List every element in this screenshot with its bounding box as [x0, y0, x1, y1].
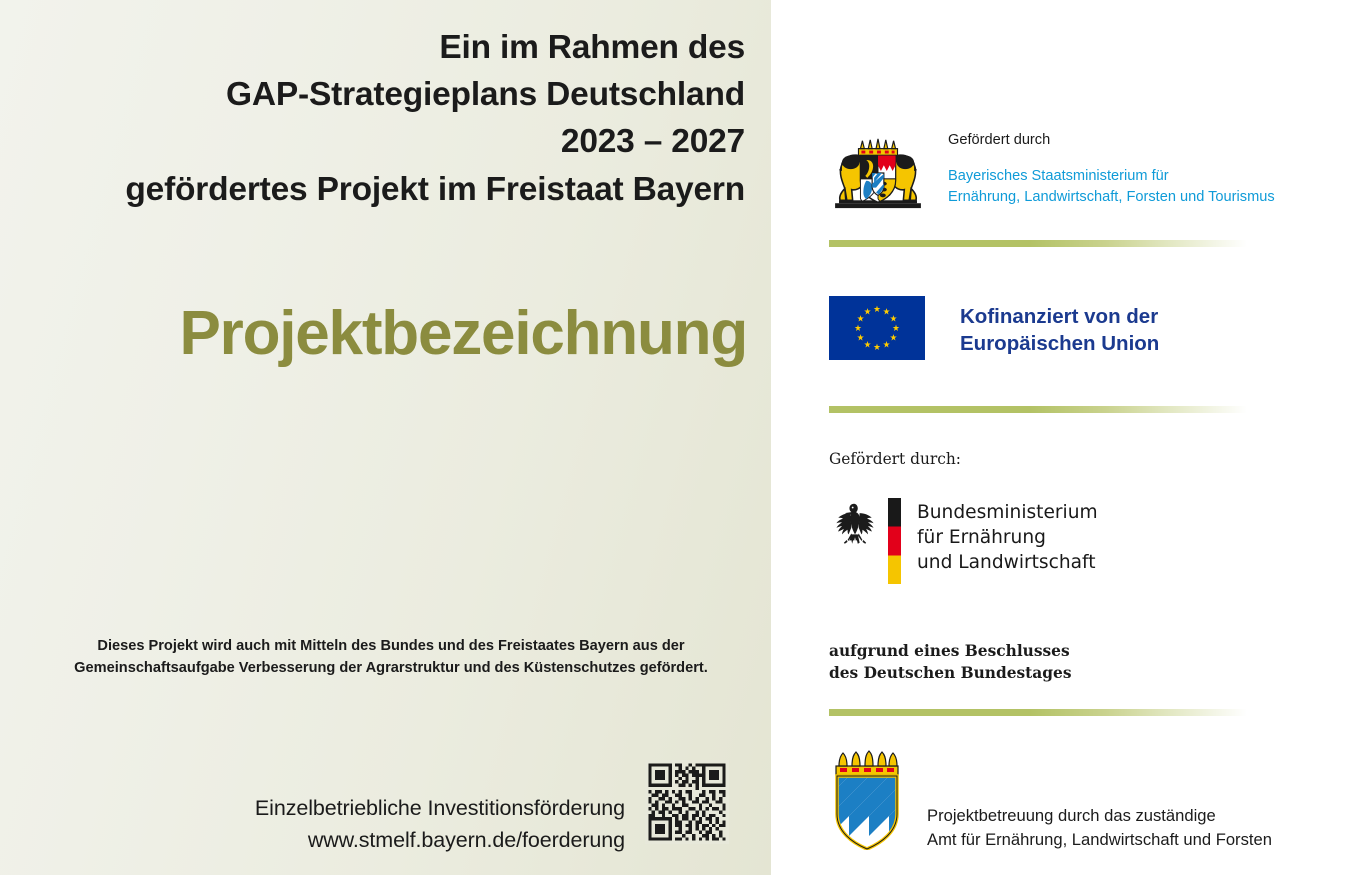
bavaria-shield-icon	[829, 748, 905, 850]
page-title: Projektbezeichnung	[7, 303, 747, 365]
bavarian-ministry-name-line-2: Ernährung, Landwirtschaft, Forsten und T…	[948, 187, 1275, 208]
eu-text-line-2: Europäischen Union	[960, 331, 1159, 358]
footer-programme-name: Einzelbetriebliche Investitionsförderung	[255, 793, 625, 825]
bmel-note-line-1: aufgrund eines Beschlusses	[829, 641, 1072, 663]
bmel-note: aufgrund eines Beschlusses des Deutschen…	[829, 641, 1072, 685]
headline-line-4: gefördertes Projekt im Freistaat Bayern	[45, 166, 745, 213]
funding-note-line-1: Dieses Projekt wird auch mit Mitteln des…	[35, 636, 747, 658]
headline-line-2: GAP-Strategieplans Deutschland	[45, 71, 745, 118]
aelf-text: Projektbetreuung durch das zuständige Am…	[927, 804, 1272, 852]
left-panel: Ein im Rahmen des GAP-Strategieplans Deu…	[0, 0, 771, 875]
bavarian-ministry-name-line-1: Bayerisches Staatsministerium für	[948, 166, 1275, 187]
footer-text: Einzelbetriebliche Investitionsförderung…	[255, 793, 625, 857]
footer-website-url[interactable]: www.stmelf.bayern.de/foerderung	[255, 825, 625, 857]
bavarian-ministry-name: Bayerisches Staatsministerium für Ernähr…	[948, 166, 1275, 207]
bmel-name-line-1: Bundesministerium	[917, 500, 1098, 525]
bmel-name: Bundesministerium für Ernährung und Land…	[917, 500, 1098, 575]
federal-eagle-icon	[829, 500, 881, 554]
funding-note-line-2: Gemeinschaftsaufgabe Verbesserung der Ag…	[35, 658, 747, 680]
aelf-text-line-1: Projektbetreuung durch das zuständige	[927, 804, 1272, 828]
bmel-funding-label: Gefördert durch:	[829, 450, 961, 468]
european-union-text: Kofinanziert von der Europäischen Union	[960, 304, 1159, 357]
bmel-name-line-2: für Ernährung	[917, 525, 1098, 550]
bavarian-ministry-label: Gefördert durch	[948, 132, 1050, 148]
divider-1	[829, 240, 1247, 247]
european-union-flag-icon	[829, 296, 925, 360]
bmel-name-line-3: und Landwirtschaft	[917, 550, 1098, 575]
right-panel: Gefördert durch Bayerisches Staatsminist…	[771, 0, 1352, 875]
eu-text-line-1: Kofinanziert von der	[960, 304, 1159, 331]
german-flag-bar-icon	[888, 498, 901, 584]
headline-line-1: Ein im Rahmen des	[45, 24, 745, 71]
qr-code-icon[interactable]	[645, 760, 729, 844]
headline: Ein im Rahmen des GAP-Strategieplans Deu…	[45, 24, 745, 213]
bmel-note-line-2: des Deutschen Bundestages	[829, 663, 1072, 685]
divider-2	[829, 406, 1247, 413]
bavarian-greater-coat-of-arms-icon	[829, 134, 927, 212]
divider-3	[829, 709, 1247, 716]
headline-line-3: 2023 – 2027	[45, 118, 745, 165]
funding-note: Dieses Projekt wird auch mit Mitteln des…	[35, 636, 747, 680]
aelf-text-line-2: Amt für Ernährung, Landwirtschaft und Fo…	[927, 828, 1272, 852]
